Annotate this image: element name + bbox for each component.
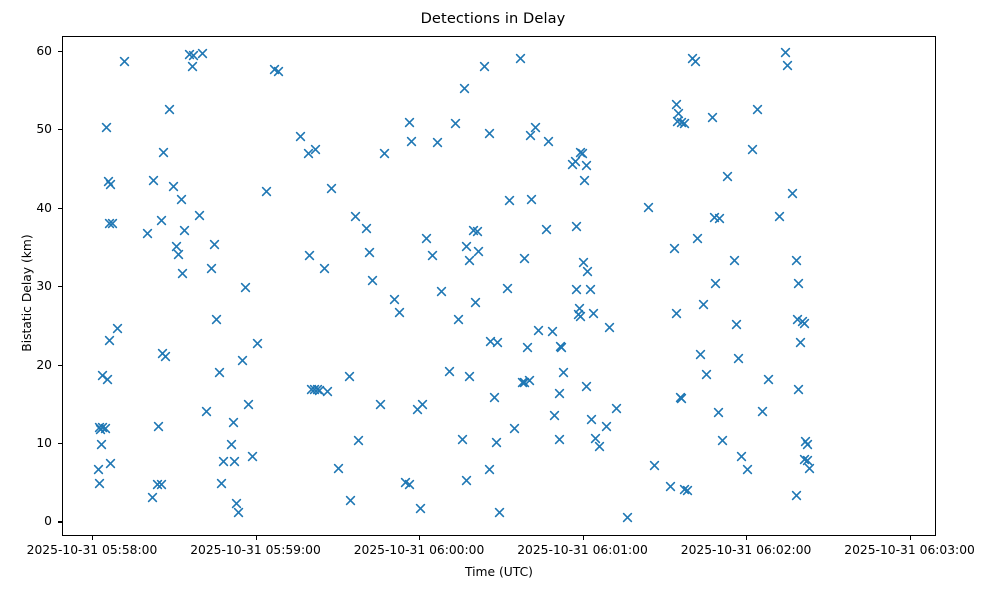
scatter-point xyxy=(797,316,808,327)
scatter-point xyxy=(188,50,199,61)
scatter-point xyxy=(102,374,113,385)
scatter-point xyxy=(367,275,378,286)
scatter-point xyxy=(729,255,740,266)
scatter-point xyxy=(489,392,500,403)
scatter-point xyxy=(326,183,337,194)
scatter-point xyxy=(470,297,481,308)
scatter-point xyxy=(494,507,505,518)
scatter-point xyxy=(575,311,586,322)
x-axis-tick-label: 2025-10-31 06:00:00 xyxy=(354,543,485,557)
scatter-point xyxy=(530,122,541,133)
scatter-point xyxy=(97,422,108,433)
scatter-point xyxy=(261,186,272,197)
scatter-point xyxy=(201,406,212,417)
scatter-point xyxy=(692,233,703,244)
scatter-point xyxy=(669,243,680,254)
scatter-point xyxy=(533,325,544,336)
scatter-point xyxy=(187,61,198,72)
y-axis-label: Bistatic Delay (km) xyxy=(20,193,34,393)
scatter-point xyxy=(310,144,321,155)
scatter-point xyxy=(574,303,585,314)
scatter-point xyxy=(578,257,589,268)
scatter-point xyxy=(417,399,428,410)
scatter-point xyxy=(105,179,116,190)
scatter-point xyxy=(524,375,535,386)
scatter-point xyxy=(364,247,375,258)
scatter-point xyxy=(171,241,182,252)
scatter-point xyxy=(577,148,588,159)
chart-title: Detections in Delay xyxy=(0,10,986,27)
scatter-point xyxy=(793,278,804,289)
scatter-point xyxy=(432,137,443,148)
scatter-point xyxy=(707,112,718,123)
scatter-point xyxy=(306,384,317,395)
scatter-point xyxy=(601,421,612,432)
scatter-point xyxy=(549,410,560,421)
scatter-point xyxy=(586,414,597,425)
scatter-point xyxy=(304,250,315,261)
scatter-point xyxy=(479,61,490,72)
scatter-point xyxy=(509,423,520,434)
scatter-point xyxy=(206,263,217,274)
scatter-point xyxy=(687,53,698,64)
y-axis-tick-label: 20 xyxy=(36,358,52,372)
scatter-point xyxy=(173,249,184,260)
scatter-point xyxy=(714,213,725,224)
scatter-point xyxy=(100,423,111,434)
scatter-point xyxy=(404,117,415,128)
scatter-point xyxy=(800,436,811,447)
scatter-point xyxy=(319,263,330,274)
scatter-plot-area[interactable] xyxy=(62,36,936,536)
y-axis-tick-label: 30 xyxy=(36,279,52,293)
scatter-point xyxy=(152,479,163,490)
scatter-point xyxy=(679,484,690,495)
x-axis-tick-label: 2025-10-31 06:02:00 xyxy=(681,543,812,557)
scatter-point xyxy=(575,147,586,158)
scatter-point xyxy=(604,322,615,333)
scatter-point xyxy=(216,478,227,489)
scatter-point xyxy=(177,268,188,279)
scatter-point xyxy=(142,228,153,239)
scatter-point xyxy=(415,503,426,514)
scatter-point xyxy=(581,160,592,171)
scatter-point xyxy=(394,307,405,318)
scatter-point xyxy=(148,175,159,186)
scatter-point xyxy=(671,99,682,110)
scatter-point xyxy=(379,148,390,159)
x-axis-tick-mark xyxy=(583,536,584,540)
y-axis-tick-mark xyxy=(58,443,62,444)
scatter-point xyxy=(747,144,758,155)
x-axis-tick-label: 2025-10-31 06:03:00 xyxy=(844,543,975,557)
scatter-point xyxy=(252,338,263,349)
scatter-point xyxy=(673,108,684,119)
scatter-point xyxy=(344,371,355,382)
x-axis-tick-label: 2025-10-31 06:01:00 xyxy=(517,543,648,557)
scatter-point xyxy=(573,309,584,320)
scatter-point xyxy=(105,458,116,469)
scatter-point xyxy=(243,399,254,410)
scatter-point xyxy=(733,353,744,364)
scatter-point xyxy=(93,464,104,475)
y-axis-tick-label: 10 xyxy=(36,436,52,450)
scatter-point xyxy=(713,407,724,418)
scatter-point xyxy=(554,434,565,445)
x-axis-tick-mark xyxy=(910,536,911,540)
scatter-point xyxy=(567,159,578,170)
scatter-point xyxy=(353,435,364,446)
scatter-point xyxy=(611,403,622,414)
scatter-point xyxy=(269,64,280,75)
scatter-point xyxy=(231,498,242,509)
scatter-point xyxy=(107,218,118,229)
scatter-point xyxy=(295,131,306,142)
scatter-point xyxy=(412,404,423,415)
scatter-point xyxy=(472,226,483,237)
scatter-point xyxy=(795,337,806,348)
scatter-point xyxy=(731,319,742,330)
scatter-point xyxy=(157,348,168,359)
scatter-point xyxy=(543,136,554,147)
scatter-point xyxy=(571,221,582,232)
scatter-point xyxy=(322,386,333,397)
scatter-point xyxy=(96,439,107,450)
scatter-point xyxy=(554,388,565,399)
scatter-point xyxy=(525,130,536,141)
scatter-point xyxy=(484,128,495,139)
scatter-point xyxy=(104,335,115,346)
scatter-point xyxy=(792,314,803,325)
scatter-point xyxy=(484,464,495,475)
scatter-point xyxy=(97,370,108,381)
scatter-point xyxy=(594,441,605,452)
scatter-point xyxy=(780,47,791,58)
scatter-point xyxy=(519,377,530,388)
scatter-point xyxy=(444,366,455,377)
scatter-point xyxy=(350,211,361,222)
scatter-point xyxy=(436,286,447,297)
scatter-point xyxy=(375,399,386,410)
scatter-point xyxy=(649,460,660,471)
scatter-point xyxy=(333,463,344,474)
scatter-point xyxy=(229,456,240,467)
scatter-point xyxy=(457,434,468,445)
x-axis-tick-mark xyxy=(256,536,257,540)
scatter-point xyxy=(450,118,461,129)
scatter-point xyxy=(555,341,566,352)
scatter-point xyxy=(184,49,195,60)
scatter-point xyxy=(515,53,526,64)
scatter-point xyxy=(240,282,251,293)
scatter-point xyxy=(389,294,400,305)
scatter-point xyxy=(802,439,813,450)
scatter-point xyxy=(752,104,763,115)
scatter-point xyxy=(209,239,220,250)
y-axis-tick-mark xyxy=(58,208,62,209)
scatter-point xyxy=(94,478,105,489)
scatter-point xyxy=(782,60,793,71)
y-axis-tick-label: 50 xyxy=(36,122,52,136)
scatter-point xyxy=(799,454,810,465)
scatter-point xyxy=(94,422,105,433)
scatter-point xyxy=(698,299,709,310)
scatter-point xyxy=(464,371,475,382)
scatter-point xyxy=(722,171,733,182)
scatter-point xyxy=(156,479,167,490)
scatter-point xyxy=(579,175,590,186)
scatter-point xyxy=(709,212,720,223)
scatter-point xyxy=(273,66,284,77)
scatter-point xyxy=(101,122,112,133)
scatter-point xyxy=(675,392,686,403)
scatter-point xyxy=(164,104,175,115)
scatter-point xyxy=(303,148,314,159)
scatter-point xyxy=(176,194,187,205)
scatter-point xyxy=(211,314,222,325)
scatter-point xyxy=(804,463,815,474)
x-axis-tick-label: 2025-10-31 05:59:00 xyxy=(190,543,321,557)
scatter-point xyxy=(757,406,768,417)
scatter-point xyxy=(682,485,693,496)
x-axis-tick-label: 2025-10-31 05:58:00 xyxy=(27,543,158,557)
scatter-point xyxy=(103,176,114,187)
scatter-point xyxy=(406,136,417,147)
scatter-point xyxy=(558,367,569,378)
scatter-point xyxy=(763,374,774,385)
scatter-point xyxy=(361,223,372,234)
scatter-point xyxy=(791,490,802,501)
x-axis-label: Time (UTC) xyxy=(62,565,936,579)
scatter-point xyxy=(427,250,438,261)
scatter-point xyxy=(237,355,248,366)
scatter-point xyxy=(622,512,633,523)
y-axis-tick-mark xyxy=(58,129,62,130)
scatter-point xyxy=(112,323,123,334)
y-axis-tick-label: 0 xyxy=(44,514,52,528)
scatter-point xyxy=(453,314,464,325)
scatter-point xyxy=(517,377,528,388)
scatter-point xyxy=(695,349,706,360)
y-axis-tick-label: 40 xyxy=(36,201,52,215)
scatter-point xyxy=(461,475,472,486)
scatter-point xyxy=(570,156,581,167)
scatter-point xyxy=(95,424,106,435)
scatter-point xyxy=(485,336,496,347)
scatter-point xyxy=(679,118,690,129)
scatter-point xyxy=(690,56,701,67)
scatter-point xyxy=(468,225,479,236)
scatter-point xyxy=(492,337,503,348)
figure-canvas: Detections in Delay 2025-10-31 05:58:002… xyxy=(0,0,986,590)
scatter-point xyxy=(160,351,171,362)
scatter-point xyxy=(464,255,475,266)
scatter-point xyxy=(104,218,115,229)
y-axis-tick-mark xyxy=(58,286,62,287)
scatter-point xyxy=(194,210,205,221)
scatter-point xyxy=(502,283,513,294)
scatter-point xyxy=(676,117,687,128)
scatter-point xyxy=(787,188,798,199)
x-axis-tick-mark xyxy=(746,536,747,540)
scatter-point xyxy=(582,266,593,277)
scatter-point xyxy=(671,308,682,319)
scatter-point xyxy=(197,48,208,59)
scatter-point xyxy=(581,381,592,392)
scatter-point xyxy=(522,342,533,353)
scatter-point xyxy=(665,481,676,492)
scatter-point xyxy=(710,278,721,289)
scatter-point xyxy=(526,194,537,205)
scatter-point xyxy=(153,421,164,432)
scatter-point xyxy=(119,56,130,67)
scatter-point xyxy=(774,211,785,222)
scatter-point xyxy=(345,495,356,506)
scatter-point xyxy=(802,455,813,466)
scatter-point xyxy=(571,284,582,295)
scatter-point xyxy=(519,253,530,264)
scatter-point xyxy=(672,116,683,127)
scatter-point xyxy=(461,241,472,252)
scatter-point xyxy=(736,451,747,462)
y-axis-tick-label: 60 xyxy=(36,44,52,58)
scatter-point xyxy=(147,492,158,503)
x-axis-tick-mark xyxy=(419,536,420,540)
scatter-point xyxy=(312,384,323,395)
scatter-point xyxy=(400,477,411,488)
scatter-point xyxy=(459,83,470,94)
scatter-point xyxy=(793,384,804,395)
scatter-point xyxy=(214,367,225,378)
scatter-point xyxy=(156,215,167,226)
scatter-point xyxy=(168,181,179,192)
scatter-point xyxy=(228,417,239,428)
y-axis-tick-mark xyxy=(58,51,62,52)
scatter-point xyxy=(218,456,229,467)
scatter-point xyxy=(504,195,515,206)
scatter-point xyxy=(226,439,237,450)
scatter-point xyxy=(547,326,558,337)
scatter-point xyxy=(590,433,601,444)
scatter-point xyxy=(799,318,810,329)
scatter-point xyxy=(742,464,753,475)
scatter-point xyxy=(491,437,502,448)
scatter-point xyxy=(158,147,169,158)
scatter-point xyxy=(247,451,258,462)
scatter-point xyxy=(676,393,687,404)
scatter-point xyxy=(309,384,320,395)
scatter-point xyxy=(585,284,596,295)
scatter-point xyxy=(717,435,728,446)
scatter-point xyxy=(588,308,599,319)
scatter-point xyxy=(179,225,190,236)
scatter-point xyxy=(314,385,325,396)
scatter-point xyxy=(421,233,432,244)
scatter-point xyxy=(473,246,484,257)
y-axis-tick-mark xyxy=(58,365,62,366)
x-axis-tick-mark xyxy=(92,536,93,540)
scatter-point xyxy=(556,342,567,353)
scatter-point xyxy=(233,507,244,518)
y-axis-tick-mark xyxy=(58,521,62,522)
scatter-point xyxy=(404,479,415,490)
scatter-point xyxy=(541,224,552,235)
scatter-point xyxy=(643,202,654,213)
scatter-point xyxy=(791,255,802,266)
scatter-point xyxy=(701,369,712,380)
